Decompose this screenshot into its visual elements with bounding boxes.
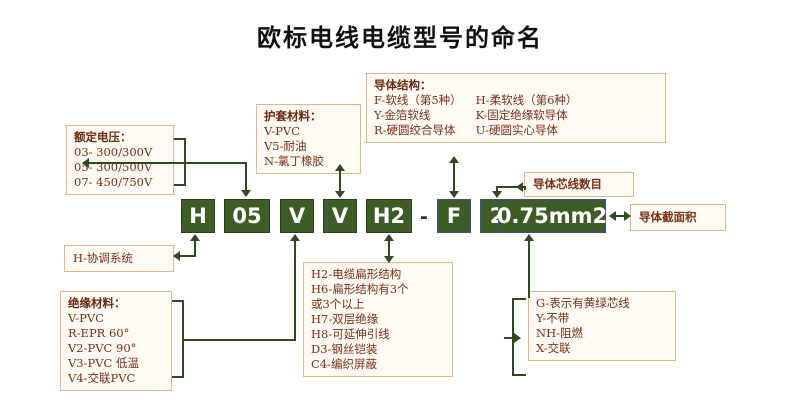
box-conductor-structure: 导体结构： F-软线（第5种） Y-金箔软线 R-硬圆绞合导体 H-柔软线（第6… xyxy=(366,73,666,143)
box-conductor-core-count: 导体芯线数目 xyxy=(524,172,634,197)
connector-structure-arrow-up xyxy=(384,234,394,241)
connector-area-arrow-right xyxy=(624,211,631,221)
code-chip-sheath[interactable]: V xyxy=(323,199,357,233)
harmonized-system-label: H-协调系统 xyxy=(73,251,165,266)
box-insulation-material: 绝缘材料： V-PVC R-EPR 60° V2-PVC 90° V3-PVC … xyxy=(60,291,172,391)
rated-voltage-header: 额定电压： xyxy=(74,130,166,145)
box-special-marks: G-表示有黄绿芯线 Y-不带 NH-阻燃 X-交联 xyxy=(528,291,676,361)
connector-insulation-vertical xyxy=(294,240,296,340)
conductor-structure-item: H-柔软线（第6种） xyxy=(476,93,578,108)
connector-sheath-arrow-down xyxy=(335,191,345,198)
sheath-material-header: 护套材料： xyxy=(264,109,353,124)
connector-voltage-arrow-down xyxy=(241,190,251,197)
special-marks-item: X-交联 xyxy=(536,341,668,356)
code-chip-structure[interactable]: H2 xyxy=(366,199,412,233)
connector-insulation-arrow-up xyxy=(290,234,300,241)
connector-conductor-line xyxy=(453,162,455,194)
cable-structure-item: 或3个以上 xyxy=(311,297,445,312)
cable-structure-item: C4-编织屏蔽 xyxy=(311,357,445,372)
connector-conductor-arrow-down xyxy=(449,191,459,198)
connector-cores-arrow-left xyxy=(516,182,523,192)
insulation-material-item: V4-交联PVC xyxy=(68,371,164,386)
sheath-material-item: V5-耐油 xyxy=(264,139,353,154)
code-chip-insulation[interactable]: V xyxy=(280,199,314,233)
conductor-core-count-label: 导体芯线数目 xyxy=(533,177,625,192)
connector-cores-arrow-down xyxy=(492,191,502,198)
box-conductor-cross-section: 导体截面积 xyxy=(630,204,726,231)
insulation-material-item: V2-PVC 90° xyxy=(68,341,164,356)
conductor-structure-col-right: H-柔软线（第6种） K-固定绝缘软导体 U-硬圆实心导体 xyxy=(476,93,578,138)
conductor-structure-item: Y-金箔软线 xyxy=(374,108,462,123)
code-chip-area[interactable]: 0.75mm2 xyxy=(498,199,606,233)
rated-voltage-item: 07- 450/750V xyxy=(74,175,166,190)
connector-special-vertical xyxy=(528,240,530,298)
cable-structure-item: H6-扁形结构有3个 xyxy=(311,282,445,297)
code-chip-conductor[interactable]: F xyxy=(437,199,471,233)
cable-structure-item: H7-双层绝缘 xyxy=(311,312,445,327)
special-marks-item: NH-阻燃 xyxy=(536,326,668,341)
connector-cores-vertical xyxy=(524,186,526,190)
code-chip-voltage[interactable]: 05 xyxy=(224,199,270,233)
special-marks-item: G-表示有黄绿芯线 xyxy=(536,296,668,311)
insulation-material-header: 绝缘材料： xyxy=(68,296,164,311)
conductor-structure-header: 导体结构： xyxy=(374,78,658,93)
cable-structure-item: D3-钢丝铠装 xyxy=(311,342,445,357)
box-harmonized-system: H-协调系统 xyxy=(64,245,174,272)
sheath-material-item: V-PVC xyxy=(264,124,353,139)
connector-special-arrow-up xyxy=(524,234,534,241)
conductor-structure-item: R-硬圆绞合导体 xyxy=(374,123,462,138)
special-marks-item: Y-不带 xyxy=(536,311,668,326)
connector-area-arrow-left xyxy=(609,211,616,221)
conductor-structure-item: U-硬圆实心导体 xyxy=(476,123,578,138)
conductor-structure-col-left: F-软线（第5种） Y-金箔软线 R-硬圆绞合导体 xyxy=(374,93,462,138)
connector-harmonized-arrow-up xyxy=(190,234,200,241)
connector-conductor-arrow-up xyxy=(449,156,459,163)
connector-voltage-elbow xyxy=(88,162,247,164)
connector-structure-arrow-down xyxy=(384,256,394,263)
connector-insulation-horizontal xyxy=(182,339,296,341)
conductor-cross-section-label: 导体截面积 xyxy=(639,210,717,225)
code-separator-dash: - xyxy=(420,206,428,228)
insulation-material-item: R-EPR 60° xyxy=(68,326,164,341)
code-chip-harmonized[interactable]: H xyxy=(181,199,215,233)
insulation-material-item: V3-PVC 低温 xyxy=(68,356,164,371)
connector-special-arrow-right xyxy=(514,333,521,343)
box-cable-structure: H2-电缆扁形结构 H6-扁形结构有3个 或3个以上 H7-双层绝缘 H8-可延… xyxy=(303,262,453,377)
cable-structure-item: H8-可延伸引线 xyxy=(311,327,445,342)
insulation-material-item: V-PVC xyxy=(68,311,164,326)
connector-harmonized-arrow-left xyxy=(173,251,180,261)
diagram-canvas: 欧标电线电缆型号的命名 导体结构： F-软线（第5种） Y-金箔软线 R-硬圆绞… xyxy=(0,0,800,415)
connector-harmonized-vertical xyxy=(194,240,196,256)
connector-voltage-down xyxy=(245,162,247,192)
conductor-structure-item: K-固定绝缘软导体 xyxy=(476,108,578,123)
box-sheath-material: 护套材料： V-PVC V5-耐油 N-氯丁橡胶 xyxy=(256,104,361,174)
conductor-structure-item: F-软线（第5种） xyxy=(374,93,462,108)
cable-structure-item: H2-电缆扁形结构 xyxy=(311,267,445,282)
page-title: 欧标电线电缆型号的命名 xyxy=(0,18,800,53)
connector-sheath-arrow-up xyxy=(335,164,345,171)
